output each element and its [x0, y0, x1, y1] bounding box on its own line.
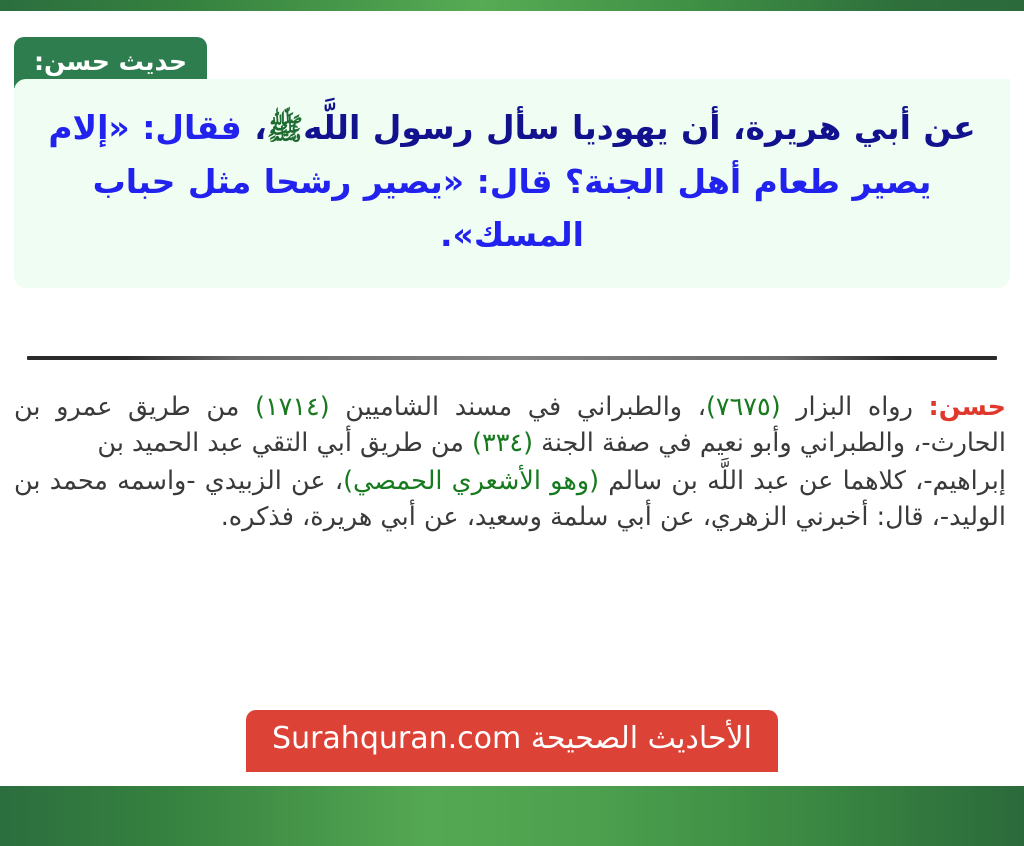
- narrator-note: (وهو الأشعري الحمصي): [343, 466, 599, 496]
- site-url-label: Surahquran.com: [272, 721, 521, 756]
- grade-label: حسن:: [929, 392, 1006, 422]
- footer-banner-row: الأحاديث الصحيحة Surahquran.com: [0, 710, 1024, 772]
- site-footer-banner[interactable]: الأحاديث الصحيحة Surahquran.com: [246, 710, 778, 772]
- reference-number-3: (٣٣٤): [472, 428, 533, 458]
- top-decorative-bar: [0, 0, 1024, 11]
- reference-text-d: من طريق أبي التقي عبد الحميد بن: [97, 428, 472, 458]
- reference-paragraph-1: حسن: رواه البزار (٧٦٧٥)، والطبراني في مس…: [14, 389, 1006, 461]
- hadith-line-1-tail: ،: [254, 108, 267, 147]
- hadith-card-page: حديث حسن: عن أبي هريرة، أن يهوديا سأل رس…: [0, 11, 1024, 786]
- hadith-text: عن أبي هريرة، أن يهوديا سأل رسول اللَّهﷺ…: [44, 101, 980, 262]
- reference-text-a: رواه البزار: [781, 392, 913, 422]
- reference-number-1: (٧٦٧٥): [706, 392, 781, 422]
- reference-text-b: ، والطبراني في مسند الشاميين: [330, 392, 706, 422]
- bottom-decorative-bar: [0, 786, 1024, 846]
- salla-allahu-alayhi-wa-sallam-icon: ﷺ: [267, 112, 303, 147]
- hadith-line-1: عن أبي هريرة، أن يهوديا سأل رسول اللَّه: [303, 108, 976, 147]
- footer-arabic-label: الأحاديث الصحيحة: [531, 721, 752, 756]
- reference-paragraph-2: إبراهيم-، كلاهما عن عبد اللَّه بن سالم (…: [14, 463, 1006, 535]
- hadith-text-card: عن أبي هريرة، أن يهوديا سأل رسول اللَّهﷺ…: [14, 79, 1010, 288]
- reference-text-e: إبراهيم-، كلاهما عن عبد اللَّه بن سالم: [599, 466, 1006, 496]
- section-divider: [27, 356, 997, 360]
- takhreej-reference: حسن: رواه البزار (٧٦٧٥)، والطبراني في مس…: [14, 389, 1006, 535]
- reference-number-2: (١٧١٤): [255, 392, 330, 422]
